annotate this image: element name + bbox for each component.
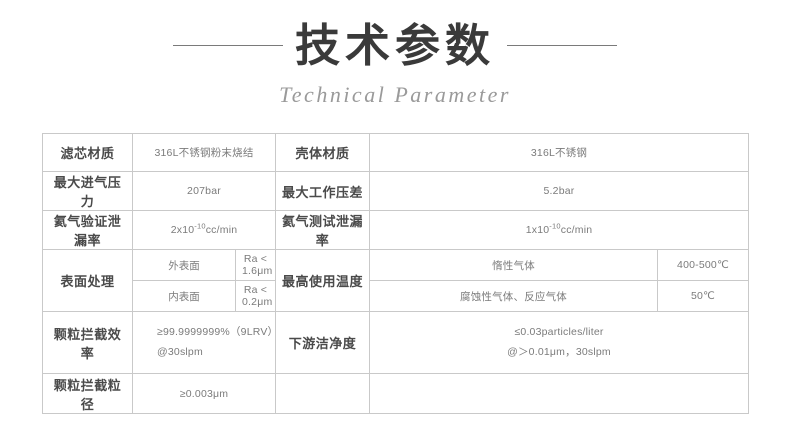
sublabel-corrosive-reactive-gas: 腐蚀性气体、反应气体 — [370, 281, 658, 312]
value-max-inlet-pressure: 207bar — [133, 172, 276, 211]
title-row: 技术参数 — [0, 16, 790, 74]
page-title: 技术参数 — [291, 23, 499, 68]
value-downstream-cleanliness: ≤0.03particles/liter @＞0.01μm，30slpm — [370, 312, 749, 374]
label-surface-treatment: 表面处理 — [43, 250, 133, 312]
value-helium-verification-leak-rate: 2x10-10cc/min — [133, 211, 276, 250]
table-row: 滤芯材质 316L不锈钢粉末烧结 壳体材质 316L不锈钢 — [43, 134, 749, 172]
page-subtitle: Technical Parameter — [0, 84, 790, 106]
value-particle-retention-efficiency-line2: @30slpm — [157, 343, 269, 363]
spec-table: 滤芯材质 316L不锈钢粉末烧结 壳体材质 316L不锈钢 最大进气压力 207… — [42, 133, 749, 414]
label-max-working-pressure-differential: 最大工作压差 — [276, 172, 370, 211]
label-helium-test-leak-rate: 氦气测试泄漏率 — [276, 211, 370, 250]
value-outer-surface-roughness: Ra < 1.6μm — [236, 250, 276, 281]
value-downstream-cleanliness-line2: @＞0.01μm，30slpm — [376, 343, 742, 363]
value-particle-retention-efficiency-line1: ≥99.9999999%（9LRV） — [157, 323, 269, 343]
spec-table-container: 滤芯材质 316L不锈钢粉末烧结 壳体材质 316L不锈钢 最大进气压力 207… — [42, 133, 748, 414]
value-empty-cell — [370, 374, 749, 414]
table-row: 内表面 Ra < 0.2μm 腐蚀性气体、反应气体 50℃ — [43, 281, 749, 312]
value-inert-gas-temperature: 400-500℃ — [658, 250, 749, 281]
title-rule-left-decoration — [173, 45, 283, 46]
title-rule-right-decoration — [507, 45, 617, 46]
label-housing-material: 壳体材质 — [276, 134, 370, 172]
table-row: 最大进气压力 207bar 最大工作压差 5.2bar — [43, 172, 749, 211]
value-max-working-pressure-differential: 5.2bar — [370, 172, 749, 211]
table-row: 颗粒拦截粒径 ≥0.003μm — [43, 374, 749, 414]
value-corrosive-reactive-gas-temperature: 50℃ — [658, 281, 749, 312]
page-header: 技术参数 Technical Parameter — [0, 0, 790, 106]
value-particle-retention-efficiency: ≥99.9999999%（9LRV） @30slpm — [133, 312, 276, 374]
sublabel-inert-gas: 惰性气体 — [370, 250, 658, 281]
label-particle-retention-efficiency: 颗粒拦截效率 — [43, 312, 133, 374]
value-helium-verification-exponent: -10 — [194, 222, 205, 231]
sublabel-inner-surface: 内表面 — [133, 281, 236, 312]
value-housing-material: 316L不锈钢 — [370, 134, 749, 172]
label-filter-element-material: 滤芯材质 — [43, 134, 133, 172]
label-helium-verification-leak-rate: 氦气验证泄漏率 — [43, 211, 133, 250]
value-helium-verification-base: 2x10 — [171, 224, 195, 236]
value-helium-test-leak-rate: 1x10-10cc/min — [370, 211, 749, 250]
value-filter-element-material: 316L不锈钢粉末烧结 — [133, 134, 276, 172]
value-inner-surface-roughness: Ra < 0.2μm — [236, 281, 276, 312]
table-row: 颗粒拦截效率 ≥99.9999999%（9LRV） @30slpm 下游洁净度 … — [43, 312, 749, 374]
value-helium-test-exponent: -10 — [549, 222, 560, 231]
value-helium-verification-unit: cc/min — [206, 224, 238, 236]
sublabel-outer-surface: 外表面 — [133, 250, 236, 281]
label-max-operating-temperature: 最高使用温度 — [276, 250, 370, 312]
label-empty-cell — [276, 374, 370, 414]
table-row: 氦气验证泄漏率 2x10-10cc/min 氦气测试泄漏率 1x10-10cc/… — [43, 211, 749, 250]
value-downstream-cleanliness-line1: ≤0.03particles/liter — [376, 323, 742, 343]
value-helium-test-unit: cc/min — [561, 224, 593, 236]
technical-parameter-page: 技术参数 Technical Parameter 滤芯材质 316L不锈钢粉末烧… — [0, 0, 790, 442]
table-row: 表面处理 外表面 Ra < 1.6μm 最高使用温度 惰性气体 400-500℃ — [43, 250, 749, 281]
value-helium-test-base: 1x10 — [526, 224, 550, 236]
label-particle-retention-size: 颗粒拦截粒径 — [43, 374, 133, 414]
label-downstream-cleanliness: 下游洁净度 — [276, 312, 370, 374]
value-particle-retention-size: ≥0.003μm — [133, 374, 276, 414]
label-max-inlet-pressure: 最大进气压力 — [43, 172, 133, 211]
